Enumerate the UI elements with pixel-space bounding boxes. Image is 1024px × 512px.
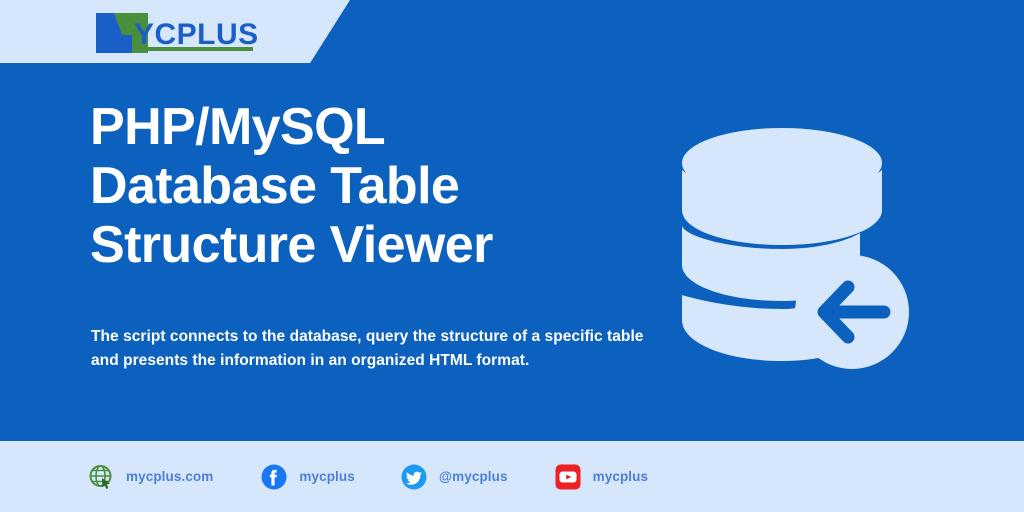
social-links: mycplus.com mycplus [88,441,648,512]
page-title: PHP/MySQL Database Table Structure Viewe… [90,98,650,275]
mycplus-logo[interactable]: YCPLUS [92,11,262,55]
footer-link-twitter-label: @mycplus [439,469,508,484]
footer-link-twitter[interactable]: @mycplus [401,441,508,512]
footer-link-website[interactable]: mycplus.com [88,441,213,512]
twitter-icon [401,464,427,490]
footer-link-website-label: mycplus.com [126,469,213,484]
footer-link-youtube[interactable]: mycplus [555,441,648,512]
promo-banner: YCPLUS PHP/MySQL Database Table Structur… [0,0,1024,512]
footer-link-facebook[interactable]: mycplus [261,441,354,512]
facebook-icon [261,464,287,490]
mycplus-logo-mark: YCPLUS [92,11,262,55]
youtube-icon [555,464,581,490]
svg-text:YCPLUS: YCPLUS [134,18,259,51]
footer-band: mycplus.com mycplus [0,441,1024,512]
globe-icon [88,464,114,490]
database-import-icon [660,115,910,375]
title-line-1: PHP/MySQL [90,98,650,157]
title-line-3: Structure Viewer [90,216,650,275]
title-line-2: Database Table [90,157,650,216]
page-description: The script connects to the database, que… [91,325,656,373]
footer-link-youtube-label: mycplus [593,469,648,484]
footer-link-facebook-label: mycplus [299,469,354,484]
